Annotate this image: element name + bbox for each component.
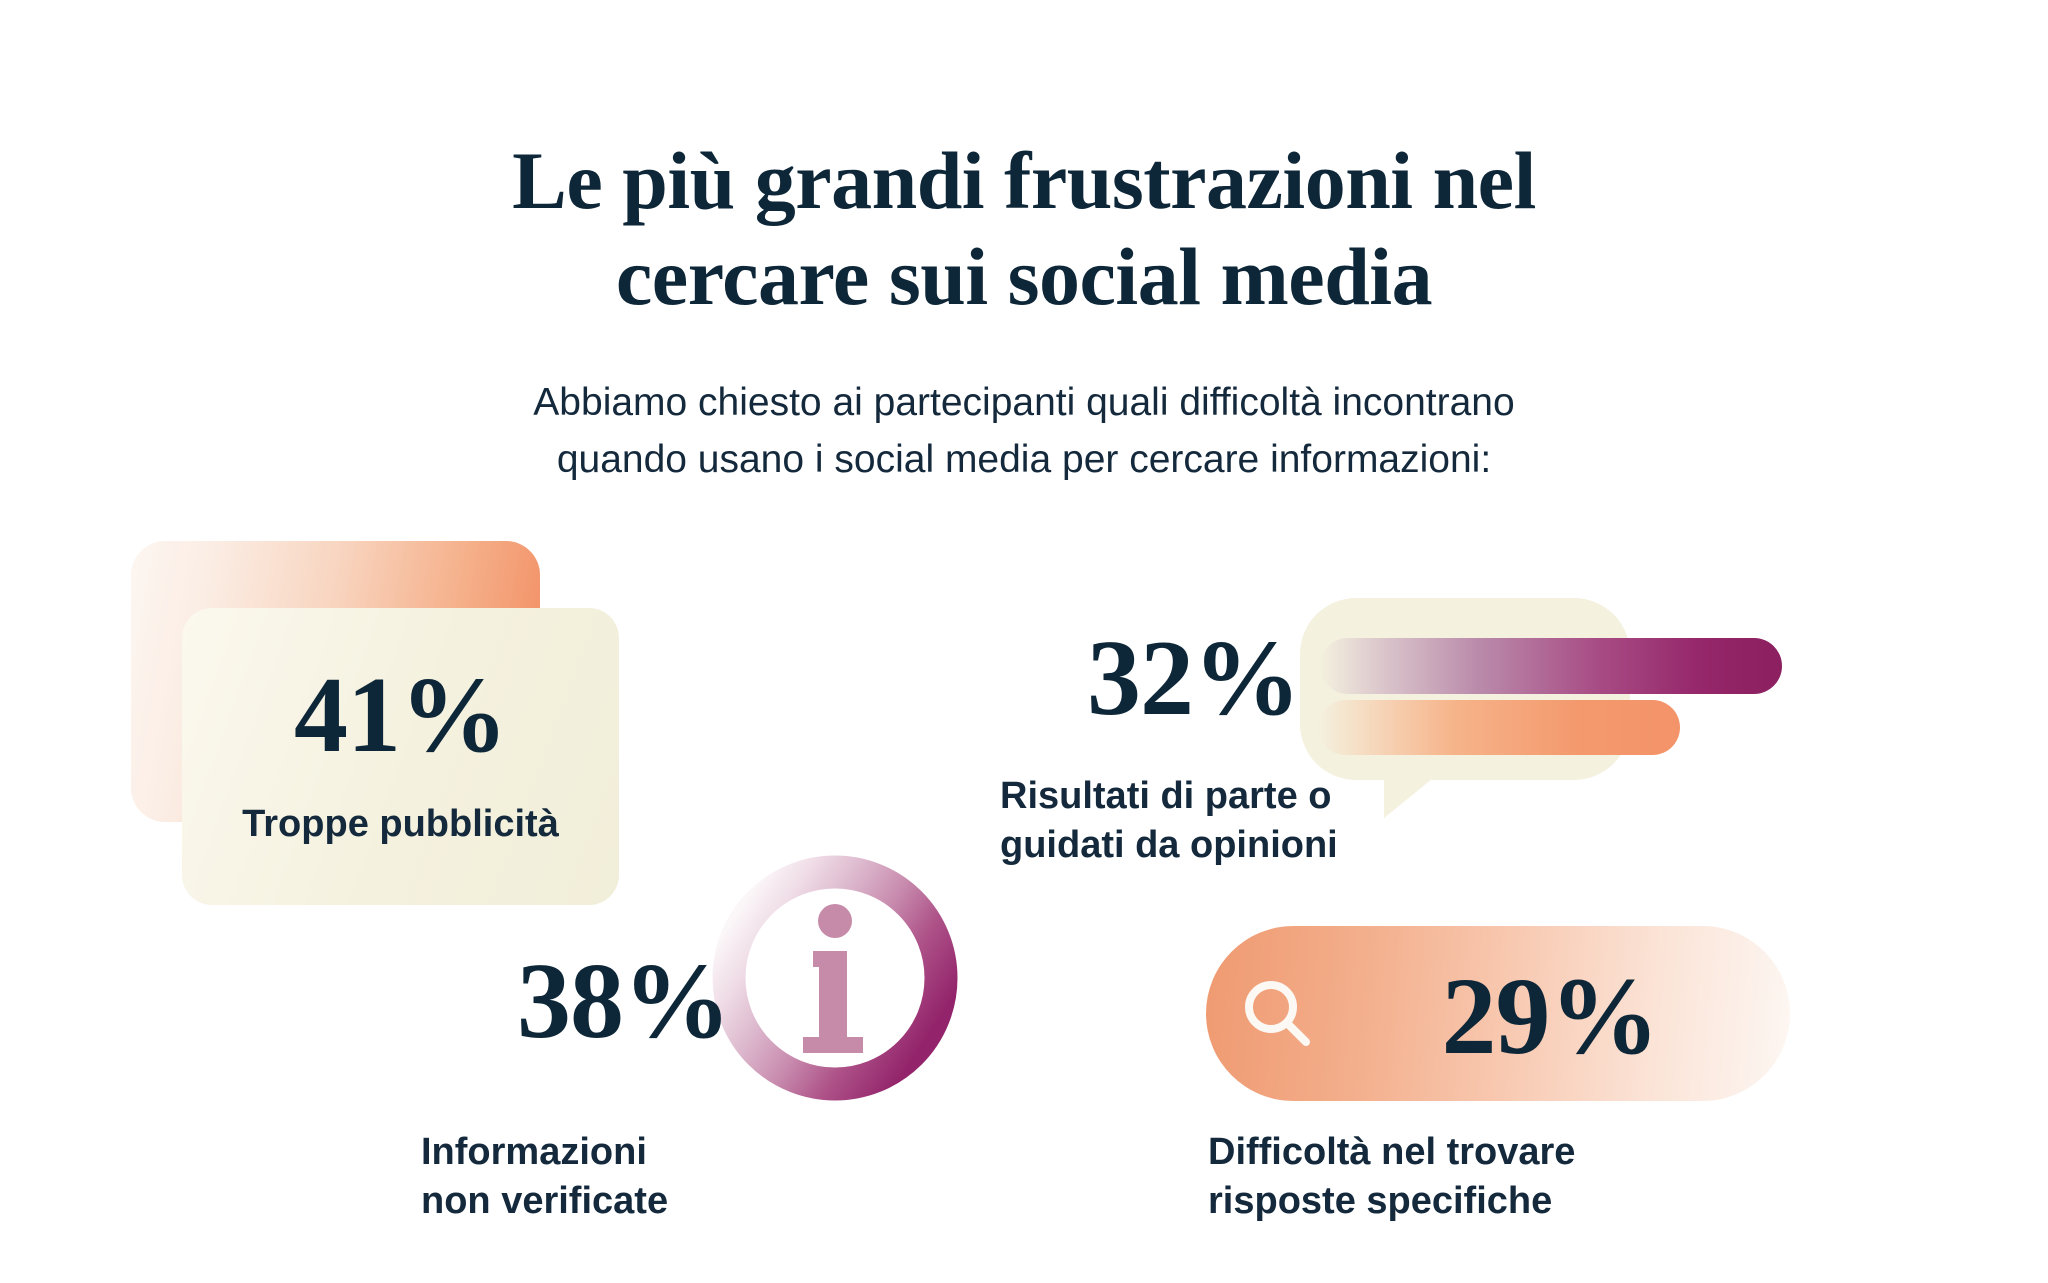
stat-label-41: Troppe pubblicità: [182, 800, 619, 849]
subtitle-line-1: Abbiamo chiesto ai partecipanti quali di…: [0, 375, 2048, 432]
bubble-bar-orange: [1318, 700, 1680, 755]
stat-label-32-line-1: Risultati di parte o: [1000, 772, 1338, 821]
stat-value-32: 32%: [1000, 625, 1300, 733]
speech-bubble-tail: [1384, 766, 1448, 818]
stat-label-38: Informazioni non verificate: [421, 1128, 668, 1225]
stat-label-29-line-2: risposte specifiche: [1208, 1177, 1575, 1226]
bubble-bar-purple: [1320, 638, 1782, 694]
stat-label-29-line-1: Difficoltà nel trovare: [1208, 1128, 1575, 1177]
stat-label-29: Difficoltà nel trovare risposte specific…: [1208, 1128, 1575, 1225]
stat-value-38: 38%: [400, 948, 730, 1056]
stat-label-38-line-1: Informazioni: [421, 1128, 668, 1177]
stat-value-29: 29%: [1206, 961, 1790, 1071]
infographic-canvas: Le più grandi frustrazioni nel cercare s…: [0, 0, 2048, 1283]
title-line-1: Le più grandi frustrazioni nel: [0, 133, 2048, 229]
stat-label-41-line-1: Troppe pubblicità: [182, 800, 619, 849]
page-subtitle: Abbiamo chiesto ai partecipanti quali di…: [0, 375, 2048, 488]
title-line-2: cercare sui social media: [0, 229, 2048, 325]
info-circle-icon: [712, 855, 958, 1101]
stat-value-41: 41%: [182, 662, 619, 770]
stat-label-32: Risultati di parte o guidati da opinioni: [1000, 772, 1338, 869]
subtitle-line-2: quando usano i social media per cercare …: [0, 432, 2048, 489]
page-title: Le più grandi frustrazioni nel cercare s…: [0, 133, 2048, 325]
stat-label-38-line-2: non verificate: [421, 1177, 668, 1226]
stat-label-32-line-2: guidati da opinioni: [1000, 821, 1338, 870]
